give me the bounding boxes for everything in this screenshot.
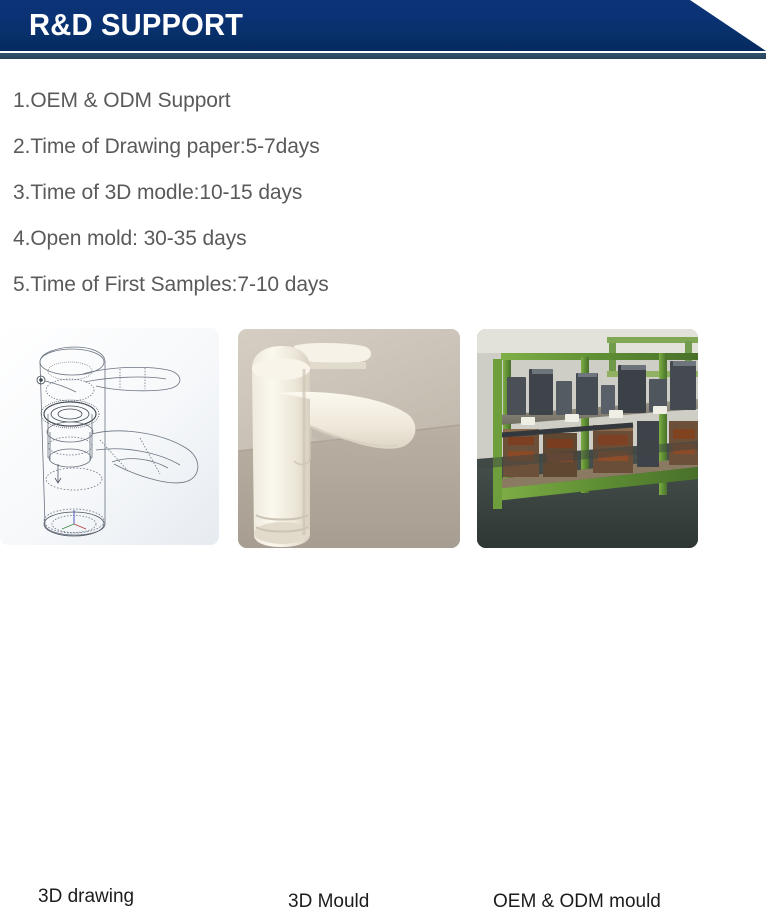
cad-wireframe-faucet-art <box>0 328 219 545</box>
figure-3d-drawing: 3D drawing <box>0 328 240 598</box>
figure-3d-mould: 3D Mould <box>238 329 478 599</box>
image-3d-mould <box>238 329 460 548</box>
figure-caption: 3D drawing <box>38 886 134 908</box>
white-faucet-prototype-photo-art <box>238 329 460 548</box>
figure-oem-odm-mould: OEM & ODM mould <box>477 329 717 599</box>
image-3d-drawing <box>0 328 219 545</box>
warehouse-mould-racks-photo-art <box>477 329 698 548</box>
figure-caption: 3D Mould <box>288 891 369 913</box>
image-gallery: 3D drawing <box>0 0 766 598</box>
figure-caption: OEM & ODM mould <box>493 891 661 913</box>
image-oem-odm-mould <box>477 329 698 548</box>
